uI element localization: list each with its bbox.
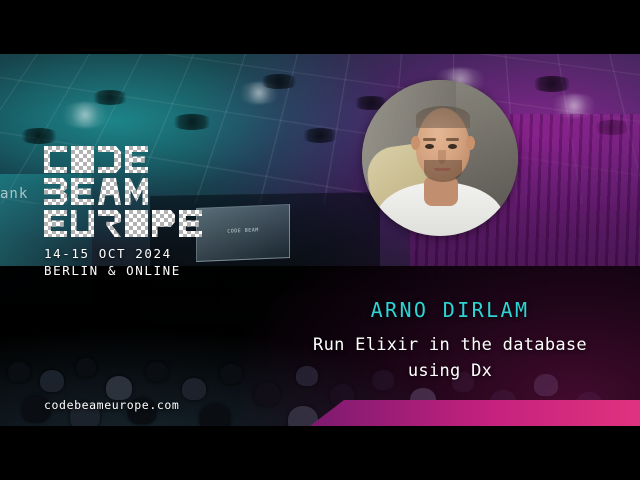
speaker-portrait-avatar <box>362 80 518 236</box>
audience-head <box>40 370 64 392</box>
audience-head <box>254 382 280 406</box>
ceiling-lamp-1 <box>18 128 60 144</box>
audience-head <box>76 358 96 377</box>
logo-letter-e <box>179 210 202 237</box>
event-location: BERLIN & ONLINE <box>44 262 202 279</box>
logo-letter-c <box>44 146 67 173</box>
audience-head <box>220 364 242 384</box>
logo-letter-a <box>98 178 121 205</box>
speaker-name: ARNO DIRLAM <box>280 298 620 322</box>
ceiling-lamp-5 <box>300 128 340 143</box>
portrait-hair <box>416 106 470 128</box>
ceiling-lamp-7 <box>530 76 574 92</box>
stage-screen-caption: CODE BEAM <box>227 227 259 234</box>
event-date-location: 14-15 OCT 2024 BERLIN & ONLINE <box>44 245 202 279</box>
ceiling-lamp-3 <box>170 114 214 130</box>
magenta-corner-wedge <box>310 400 640 426</box>
audience-head <box>288 406 318 426</box>
portrait-eye-right <box>448 144 457 149</box>
ceiling-lamp-4 <box>258 74 300 89</box>
audience-head <box>106 376 132 400</box>
talk-title: Run Elixir in the database using Dx <box>272 332 628 384</box>
talk-title-line-2: using Dx <box>272 358 628 384</box>
portrait-mouth <box>434 168 451 171</box>
stage-projection-screen: CODE BEAM <box>196 204 290 262</box>
logo-letter-b <box>44 178 67 205</box>
ceiling-lamp-2 <box>90 90 130 105</box>
video-image: ank CODE BEAM <box>0 54 640 426</box>
logo-line-beam <box>44 178 202 205</box>
audience-head <box>8 362 30 382</box>
letterbox-bar-bottom <box>0 426 640 480</box>
logo-line-europe <box>44 210 202 237</box>
logo-letter-d <box>98 146 121 173</box>
logo-letter-e <box>71 178 94 205</box>
portrait-eye-left <box>425 144 434 149</box>
audience-head <box>200 404 230 426</box>
logo-letter-u <box>71 210 94 237</box>
logo-letter-e <box>125 146 148 173</box>
logo-letter-o <box>71 146 94 173</box>
portrait-ear-right <box>466 136 475 150</box>
ceiling-light-glow-1 <box>58 102 112 128</box>
logo-line-code <box>44 146 202 173</box>
logo-letter-r <box>98 210 121 237</box>
logo-letter-e <box>44 210 67 237</box>
talk-title-line-1: Run Elixir in the database <box>272 332 628 358</box>
letterbox-bar-top <box>0 0 640 54</box>
logo-letter-p <box>152 210 175 237</box>
portrait-ear-left <box>411 136 420 150</box>
event-website-url: codebeameurope.com <box>44 398 179 412</box>
event-date: 14-15 OCT 2024 <box>44 245 202 262</box>
wall-sign-text: ank <box>0 186 28 202</box>
portrait-beard <box>424 160 462 182</box>
portrait-eyebrow-left <box>423 138 436 141</box>
portrait-eyebrow-right <box>446 138 459 141</box>
code-beam-europe-logo: 14-15 OCT 2024 BERLIN & ONLINE <box>44 146 202 279</box>
audience-head <box>146 362 168 382</box>
logo-letter-o <box>125 210 148 237</box>
audience-head <box>182 378 206 400</box>
logo-letter-m <box>125 178 148 205</box>
video-frame-container: ank CODE BEAM <box>0 0 640 480</box>
